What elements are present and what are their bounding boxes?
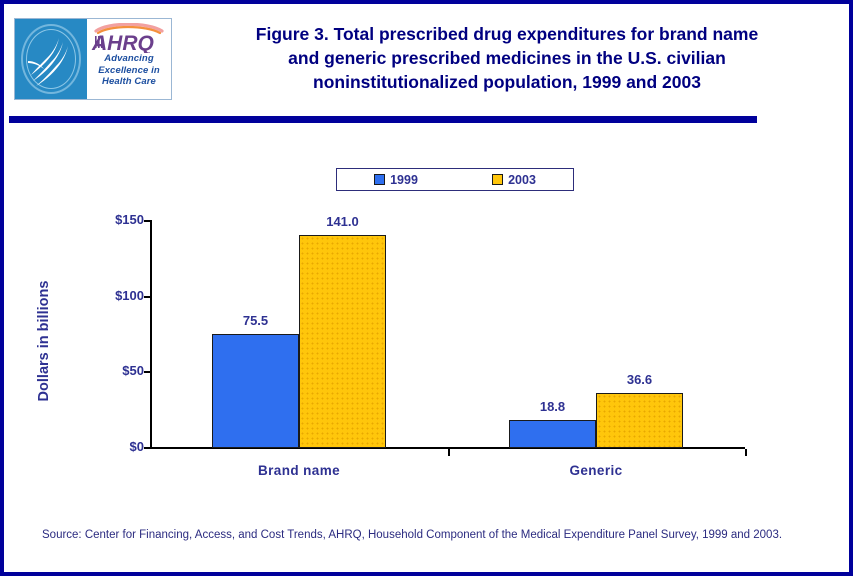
category-label-brand-name: Brand name — [199, 463, 399, 478]
bar-value-label-generic-1999: 18.8 — [499, 399, 606, 414]
bar-value-label-brand-name-1999: 75.5 — [202, 313, 309, 328]
bar-value-label-brand-name-2003: 141.0 — [289, 214, 396, 229]
figure-page: AHRQ Advancing Excellence in Health Care… — [0, 0, 853, 576]
figure-title-line-2: and generic prescribed medicines in the … — [182, 46, 832, 70]
ahrq-letters-icon: AHRQ — [88, 23, 170, 53]
y-tick-label-100: $100 — [84, 288, 144, 303]
ahrq-tagline-line-3: Health Care — [87, 76, 171, 88]
hhs-seal-icon — [15, 19, 87, 99]
bar-chart: 1999 2003 Dollars in billions $0$50$100$… — [4, 123, 849, 503]
y-axis-title: Dollars in billions — [36, 261, 52, 421]
source-footnote: Source: Center for Financing, Access, an… — [42, 528, 812, 543]
y-tick-label-150: $150 — [84, 212, 144, 227]
y-tick-label-50: $50 — [84, 363, 144, 378]
hhs-bird-icon — [25, 31, 77, 89]
figure-title-line-1: Figure 3. Total prescribed drug expendit… — [182, 22, 832, 46]
x-tick-mark-1 — [745, 449, 747, 456]
x-tick-mark-0 — [448, 449, 450, 456]
y-axis-line — [150, 220, 152, 447]
figure-header: AHRQ Advancing Excellence in Health Care… — [4, 4, 849, 110]
category-label-generic: Generic — [496, 463, 696, 478]
svg-text:AHRQ: AHRQ — [91, 32, 154, 53]
bar-generic-1999 — [509, 420, 596, 448]
y-tick-label-0: $0 — [84, 439, 144, 454]
figure-title-line-3: noninstitutionalized population, 1999 an… — [182, 70, 832, 94]
bar-generic-2003 — [596, 393, 683, 448]
header-divider-rule — [9, 116, 757, 123]
bar-brand-name-2003 — [299, 235, 386, 448]
ahrq-tagline-line-1: Advancing — [87, 53, 171, 65]
plot-area: Dollars in billions $0$50$100$150 75.514… — [4, 123, 849, 503]
bar-brand-name-1999 — [212, 334, 299, 448]
bar-value-label-generic-2003: 36.6 — [586, 372, 693, 387]
ahrq-tagline-line-2: Excellence in — [87, 65, 171, 77]
ahrq-wordmark-block: AHRQ Advancing Excellence in Health Care — [87, 19, 171, 99]
ahrq-hhs-logo: AHRQ Advancing Excellence in Health Care — [14, 18, 172, 100]
figure-title: Figure 3. Total prescribed drug expendit… — [182, 22, 832, 94]
ahrq-wordmark: AHRQ — [87, 23, 171, 53]
